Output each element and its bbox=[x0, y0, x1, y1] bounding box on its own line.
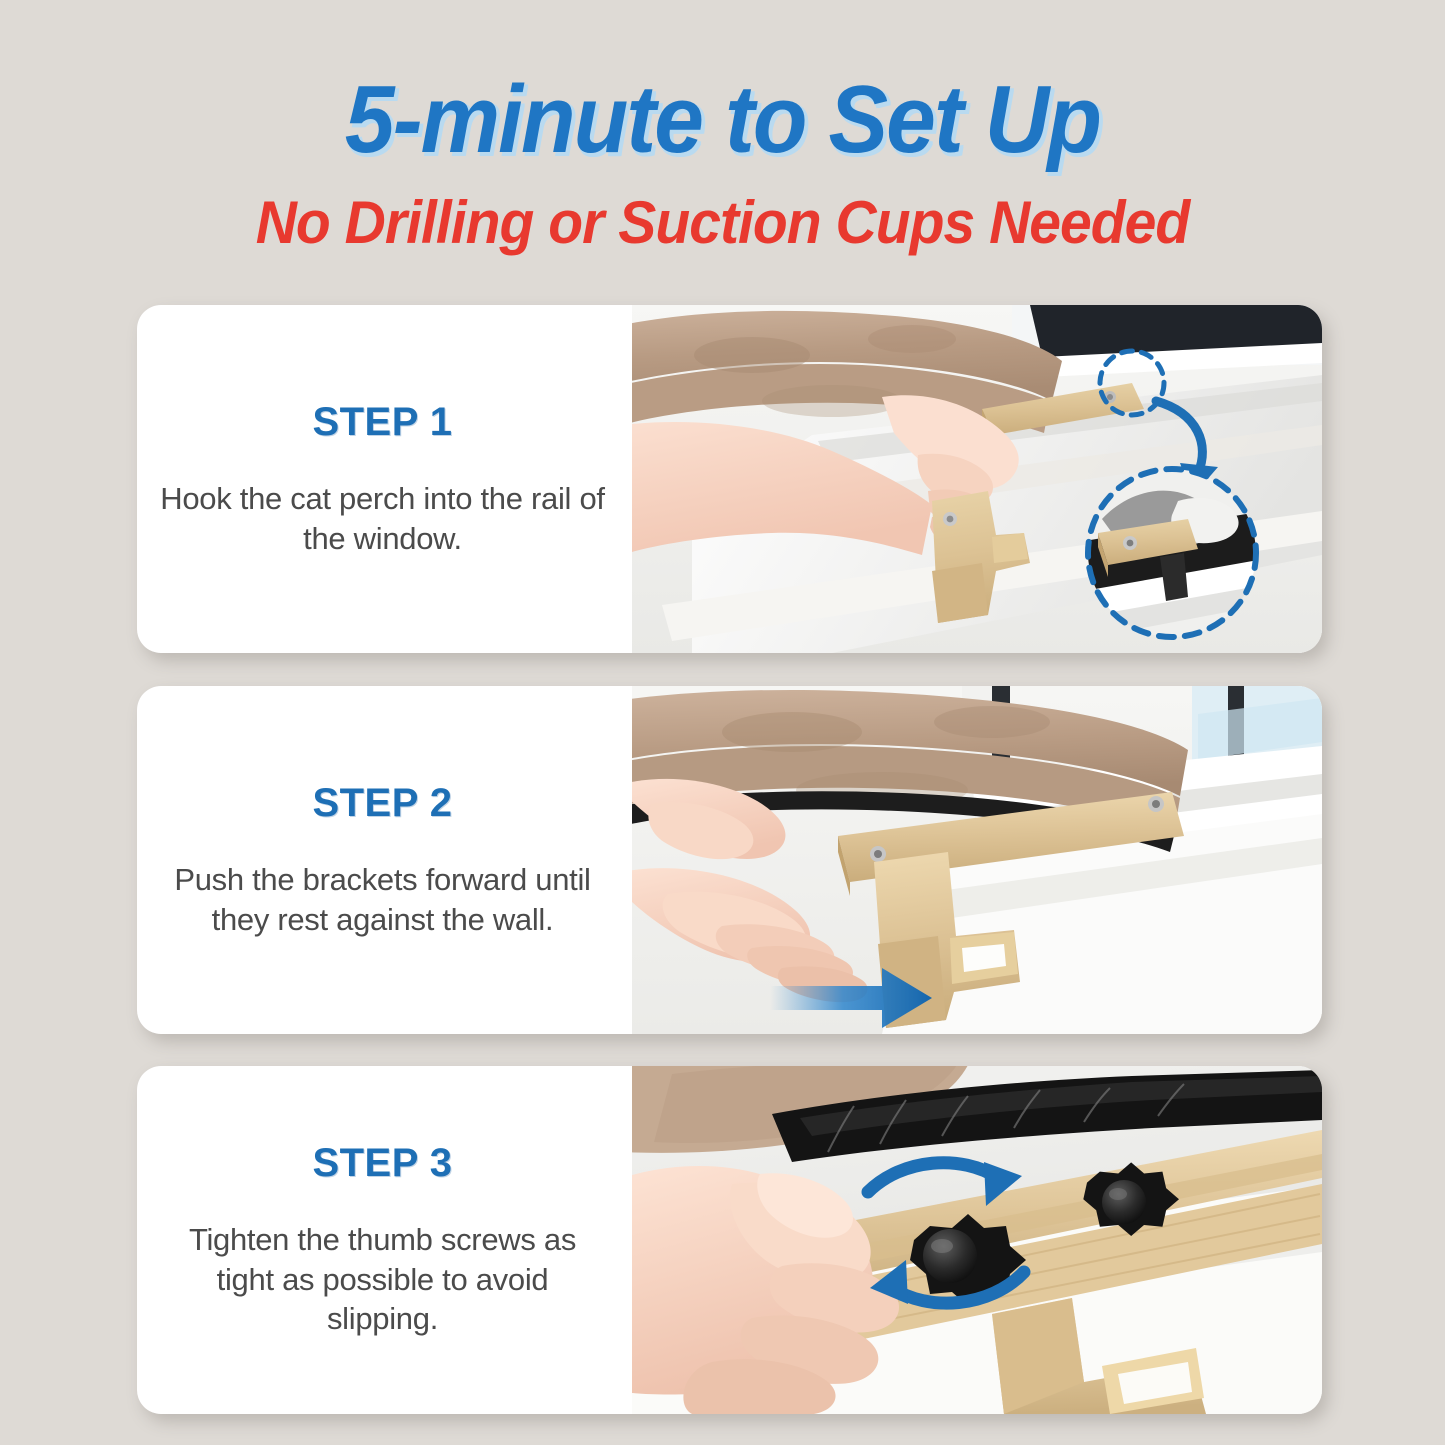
header: 5-minute to Set Up No Drilling or Suctio… bbox=[0, 0, 1445, 300]
step-card-1: STEP 1 Hook the cat perch into the rail … bbox=[137, 305, 1322, 653]
step-1-illustration bbox=[632, 305, 1322, 653]
step-3-illustration bbox=[632, 1066, 1322, 1414]
step-2-text-block: STEP 2 Push the brackets forward until t… bbox=[137, 686, 628, 1034]
step-3-body: Tighten the thumb screws as tight as pos… bbox=[159, 1220, 606, 1339]
page-subheadline: No Drilling or Suction Cups Needed bbox=[36, 193, 1409, 253]
page-headline: 5-minute to Set Up bbox=[51, 72, 1395, 168]
step-2-illustration bbox=[632, 686, 1322, 1034]
step-3-text-block: STEP 3 Tighten the thumb screws as tight… bbox=[137, 1066, 628, 1414]
step-card-3: STEP 3 Tighten the thumb screws as tight… bbox=[137, 1066, 1322, 1414]
step-1-photo bbox=[628, 305, 1322, 653]
step-card-2: STEP 2 Push the brackets forward until t… bbox=[137, 686, 1322, 1034]
step-1-body: Hook the cat perch into the rail of the … bbox=[159, 479, 606, 558]
step-1-title: STEP 1 bbox=[312, 400, 452, 445]
step-3-title: STEP 3 bbox=[312, 1141, 452, 1186]
step-2-photo bbox=[628, 686, 1322, 1034]
step-1-text-block: STEP 1 Hook the cat perch into the rail … bbox=[137, 305, 628, 653]
step-3-photo bbox=[628, 1066, 1322, 1414]
step-2-title: STEP 2 bbox=[312, 781, 452, 826]
step-2-body: Push the brackets forward until they res… bbox=[159, 860, 606, 939]
